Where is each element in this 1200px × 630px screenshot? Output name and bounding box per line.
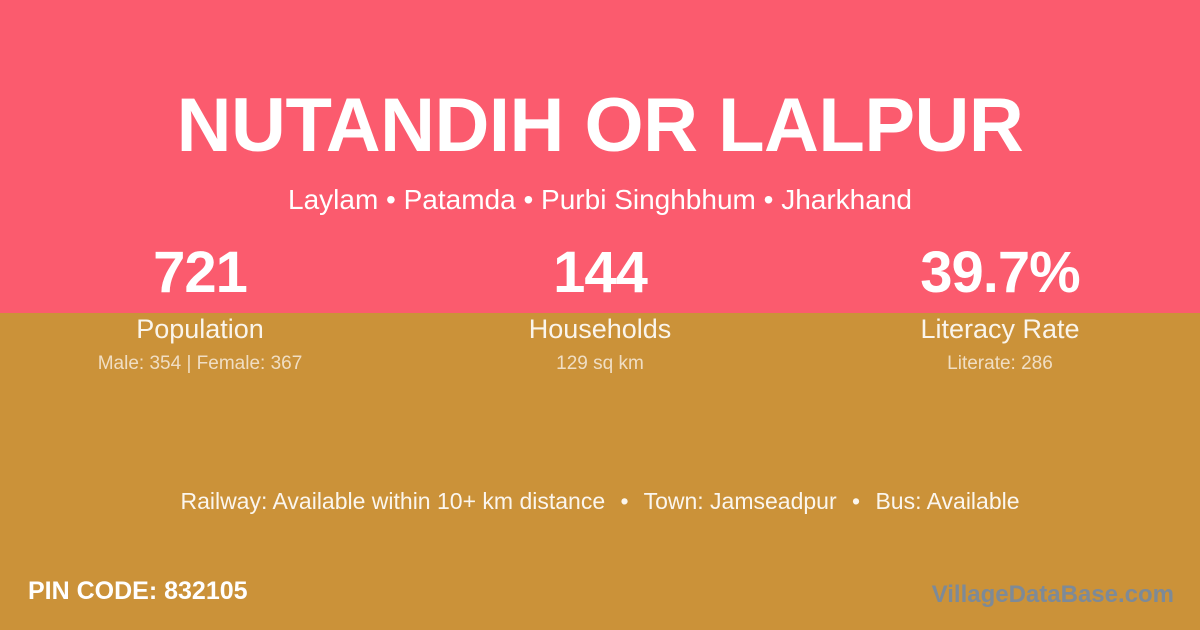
amenity-separator-1: • xyxy=(612,486,638,516)
stat-households-label: Households xyxy=(400,313,800,345)
amenity-town: Town: Jamseadpur xyxy=(644,488,837,514)
stat-population-caption: Male: 354 | Female: 367 xyxy=(0,352,400,376)
pin-code: PIN CODE: 832105 xyxy=(28,575,248,607)
stat-households-caption: 129 sq km xyxy=(400,352,800,376)
location-breadcrumb: Laylam • Patamda • Purbi Singhbhum • Jha… xyxy=(0,182,1200,218)
stat-literacy-label: Literacy Rate xyxy=(800,313,1200,345)
stat-population-label: Population xyxy=(0,313,400,345)
amenities-row: Railway: Available within 10+ km distanc… xyxy=(0,486,1200,516)
stat-literacy: 39.7% Literacy Rate Literate: 286 xyxy=(800,240,1200,376)
stat-population: 721 Population Male: 354 | Female: 367 xyxy=(0,240,400,376)
amenity-railway: Railway: Available within 10+ km distanc… xyxy=(180,488,605,514)
amenity-bus: Bus: Available xyxy=(875,488,1019,514)
stat-households: 144 Households 129 sq km xyxy=(400,240,800,376)
stat-households-value: 144 xyxy=(400,240,800,306)
stat-literacy-caption: Literate: 286 xyxy=(800,352,1200,376)
stats-row: 721 Population Male: 354 | Female: 367 1… xyxy=(0,240,1200,376)
page-title: NUTANDIH OR LALPUR xyxy=(0,84,1200,168)
stat-literacy-value: 39.7% xyxy=(800,240,1200,306)
amenity-separator-2: • xyxy=(843,486,869,516)
stat-population-value: 721 xyxy=(0,240,400,306)
brand-watermark: VillageDataBase.com xyxy=(932,580,1174,610)
village-info-card: NUTANDIH OR LALPUR Laylam • Patamda • Pu… xyxy=(0,0,1200,630)
